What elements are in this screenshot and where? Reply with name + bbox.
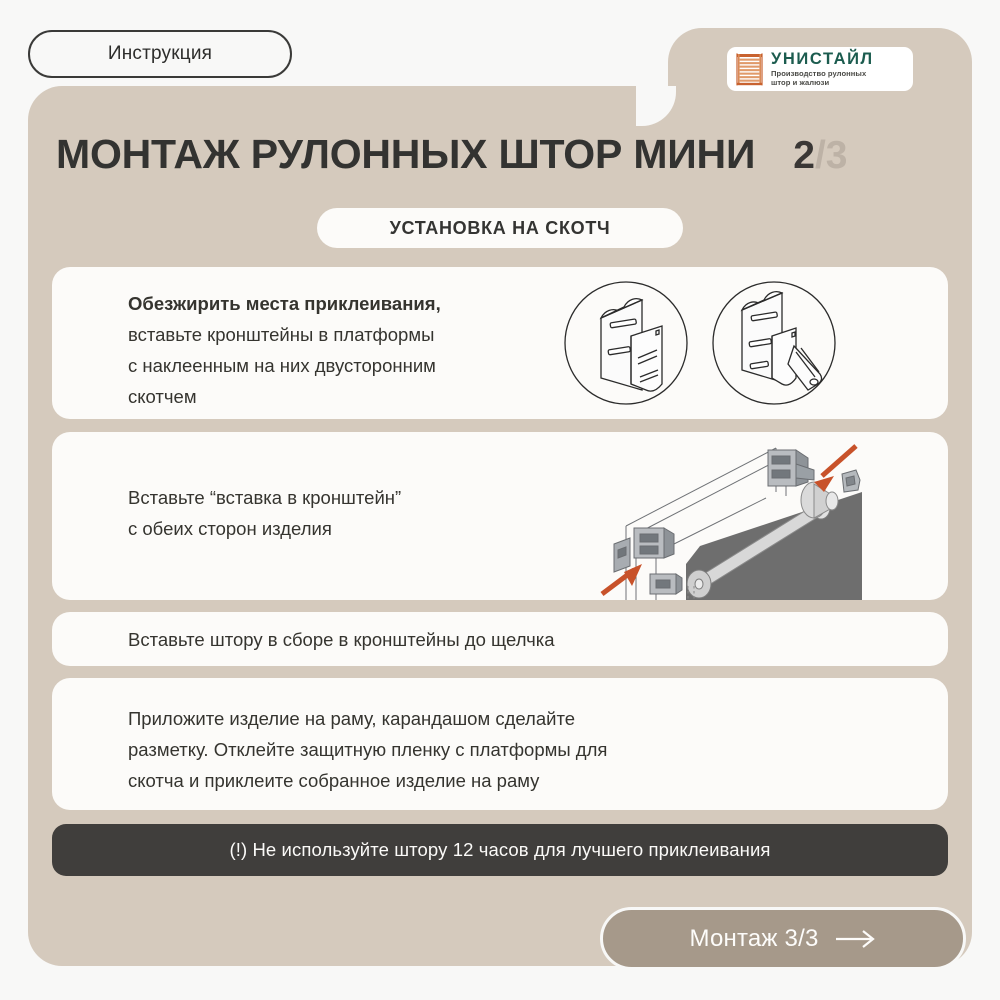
logo-tagline-line2: штор и жалюзи [771,78,874,87]
logo-tagline: Производство рулонных штор и жалюзи [771,69,874,88]
step-text-1: Обезжирить места приклеивания, вставьте … [128,288,441,412]
next-page-button[interactable]: Монтаж 3/3 [600,907,966,970]
roller-blind-assembly-diagram [600,434,948,600]
page-title-text: МОНТАЖ РУЛОННЫХ ШТОР МИНИ [56,131,755,178]
roller-blind-icon [734,53,765,86]
page-counter-separator: / [815,134,826,177]
step-4-line-2: разметку. Отклейте защитную пленку с пла… [128,734,607,765]
section-subtitle-label: УСТАНОВКА НА СКОТЧ [390,218,611,239]
step-text-4: Приложите изделие на раму, карандашом сд… [128,703,607,796]
section-subtitle: УСТАНОВКА НА СКОТЧ [317,208,683,248]
next-page-button-label: Монтаж 3/3 [689,925,818,953]
step-2-line-1: Вставьте “вставка в кронштейн” [128,482,401,513]
page-title: МОНТАЖ РУЛОННЫХ ШТОР МИНИ 2/3 [56,131,847,178]
brand-logo: УНИСТАЙЛ Производство рулонных штор и жа… [727,47,913,91]
logo-tagline-line1: Производство рулонных [771,69,874,78]
step-1-line-2: вставьте кронштейны в платформы [128,319,441,350]
page-counter-current: 2 [793,134,815,177]
warning-banner: (!) Не используйте штору 12 часов для лу… [52,824,948,876]
bracket-platform-diagram [556,278,846,408]
step-4-line-3: скотча и приклеите собранное изделие на … [128,765,607,796]
page-counter-total: 3 [826,134,848,177]
step-1-line-1: Обезжирить места приклеивания, [128,288,441,319]
instruction-page: Инструкция УНИСТАЙЛ Производство ру [0,0,1000,1000]
step-1-line-3: с наклеенным на них двусторонним [128,350,441,381]
logo-brand-name: УНИСТАЙЛ [771,51,874,68]
arrow-right-icon [835,929,877,949]
logo-text-group: УНИСТАЙЛ Производство рулонных штор и жа… [771,51,874,88]
instruction-badge-label: Инструкция [108,43,212,65]
step-2-line-2: с обеих сторон изделия [128,513,401,544]
step-1-line-4: скотчем [128,381,441,412]
step-text-3: Вставьте штору в сборе в кронштейны до щ… [128,624,555,655]
page-counter: 2/3 [793,134,847,178]
step-3-line-1: Вставьте штору в сборе в кронштейны до щ… [128,624,555,655]
warning-banner-text: (!) Не используйте штору 12 часов для лу… [229,839,770,861]
step-4-line-1: Приложите изделие на раму, карандашом сд… [128,703,607,734]
step-text-2: Вставьте “вставка в кронштейн” с обеих с… [128,482,401,544]
instruction-badge: Инструкция [28,30,292,78]
